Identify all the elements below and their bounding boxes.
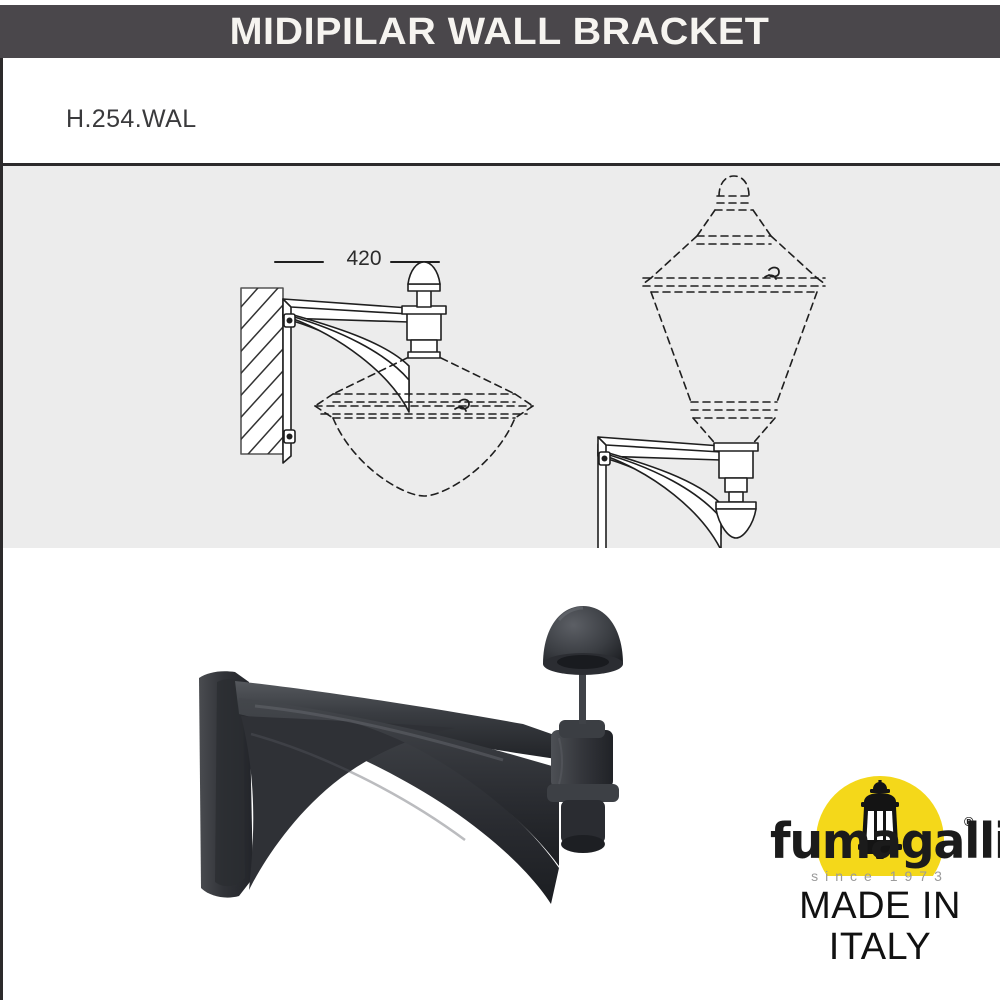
bracket-arm-right bbox=[598, 437, 721, 548]
product-code: H.254.WAL bbox=[66, 105, 197, 134]
lantern-outline-below bbox=[315, 358, 533, 496]
joint-block-left bbox=[402, 306, 446, 358]
logo-wordmark: fumagalli bbox=[770, 816, 994, 868]
finial-down-right bbox=[716, 492, 756, 538]
drawing-view-right bbox=[556, 176, 825, 548]
brand-logo: fumagalli ® since 1973 MADE IN ITALY bbox=[768, 776, 992, 992]
made-in-line-1: MADE IN bbox=[768, 886, 992, 927]
product-datasheet: MIDIPILAR WALL BRACKET H.254.WAL bbox=[0, 0, 1000, 1000]
lantern-outline-above bbox=[643, 176, 825, 448]
technical-drawing-svg bbox=[3, 166, 1000, 548]
dimension-label-420: 420 bbox=[326, 247, 402, 271]
technical-drawing-panel bbox=[0, 166, 1000, 548]
bracket-photo-body bbox=[199, 606, 623, 904]
page-title: MIDIPILAR WALL BRACKET bbox=[230, 13, 770, 51]
product-code-band: H.254.WAL bbox=[0, 58, 1000, 164]
bracket-arm-left bbox=[283, 299, 409, 463]
brand-tagline: since 1973 bbox=[774, 868, 986, 884]
made-in-italy: MADE IN ITALY bbox=[768, 886, 992, 968]
dome-finial bbox=[543, 606, 623, 675]
made-in-line-2: ITALY bbox=[768, 927, 992, 968]
header-bar: MIDIPILAR WALL BRACKET bbox=[0, 5, 1000, 58]
registered-mark: ® bbox=[964, 814, 974, 829]
drawing-view-left bbox=[233, 262, 533, 496]
finial-up-left bbox=[408, 262, 440, 307]
brand-name: fumagalli bbox=[770, 816, 987, 868]
joint-block-right bbox=[714, 443, 758, 492]
